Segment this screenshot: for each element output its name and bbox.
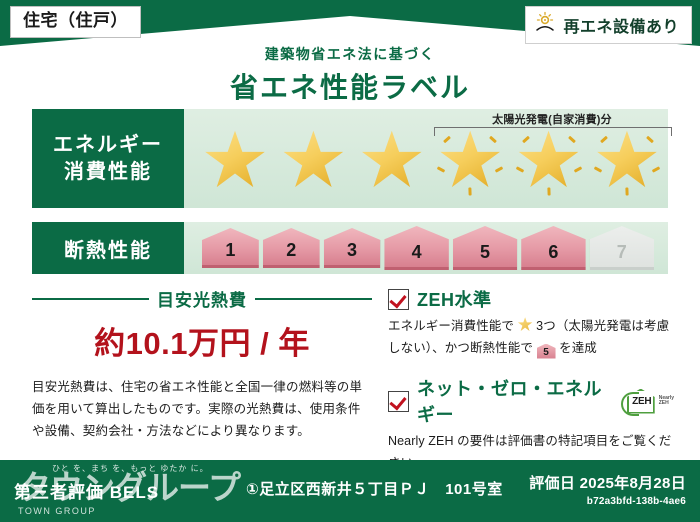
energy-label-line2: 消費性能 [64,159,152,186]
insulation-level-2: 2 [263,228,320,268]
star-icon [200,124,270,194]
net-zero-title: ネット・ゼロ・エネルギー [417,375,609,427]
evaluation-id: b72a3bfd-138b-4ae6 [529,496,686,507]
checkbox-checked-icon[interactable] [388,391,409,412]
net-zero-check-row: ネット・ゼロ・エネルギー ZEH Nearly ZEH [388,375,674,427]
house-level-icon: 5 [537,344,556,359]
sparkle-icon [594,166,602,172]
sparkle-icon [515,166,523,172]
sparkle-icon [646,135,654,143]
zeh-sub-line2: ZEH [659,400,669,406]
insulation-level-7: 7 [590,226,654,270]
star-solar-icon [592,124,662,194]
zeh-mark-icon: ZEH [621,389,657,414]
sparkle-icon [489,135,497,143]
insulation-scale: 1234567 [202,222,654,274]
utility-cost-heading: 目安光熱費 [32,286,372,311]
star-shape [204,130,266,192]
utility-cost-block: 目安光熱費 約10.1万円 / 年 目安光熱費は、住宅の省エネ性能と全国一律の燃… [32,286,372,443]
insulation-level-3: 3 [324,228,381,268]
insulation-performance-row: 断熱性能 1234567 [32,222,668,274]
property-address: ①足立区西新井５丁目ＰＪ 101号室 [246,478,503,499]
insulation-level-1: 1 [202,228,259,268]
star-shape [361,130,423,192]
footer-bar: 第三者評価 BELS ①足立区西新井５丁目ＰＪ 101号室 評価日 2025年8… [0,460,700,522]
utility-cost-note: 目安光熱費は、住宅の省エネ性能と全国一律の燃料等の単価を用いて算出したものです。… [32,377,372,443]
heading-rule-left [32,298,149,300]
zeh-standard-title: ZEH水準 [417,286,492,312]
sparkle-icon [568,135,576,143]
evaluation-date: 評価日 2025年8月28日 [529,472,686,493]
utility-cost-label: 目安光熱費 [157,286,247,311]
renewable-badge-label: 再エネ設備あり [563,13,679,37]
zeh-house-logo: ZEH Nearly ZEH [621,389,674,414]
sparkle-icon [437,166,445,172]
insulation-row-label: 断熱性能 [32,222,184,274]
energy-row-body: 太陽光発電(自家消費)分 [184,109,668,208]
insulation-level-5: 5 [453,226,517,270]
certification-checks: ZEH水準 エネルギー消費性能で 3つ（太陽光発電は考慮しない）、かつ断熱性能で… [388,286,674,474]
sparkle-icon [495,166,503,172]
zeh-body-part1: エネルギー消費性能で [388,319,514,333]
page-title: 省エネ性能ラベル [0,66,700,106]
renewable-energy-badge: 再エネ設備あり [525,6,692,44]
heading-rule-right [255,298,372,300]
utility-cost-value: 約10.1万円 / 年 [32,318,372,363]
sparkle-icon [547,187,550,195]
star-rating [194,109,668,208]
star-solar-icon [435,124,505,194]
sun-icon [534,11,556,38]
building-type-tag: 住宅（住戸） [10,6,141,38]
energy-label-line1: エネルギー [53,132,163,159]
third-party-evaluation-label: 第三者評価 BELS [14,478,159,503]
label-title-group: 建築物省エネ法に基づく 省エネ性能ラベル [0,44,700,106]
energy-performance-row: エネルギー 消費性能 太陽光発電(自家消費)分 [32,109,668,208]
checkbox-checked-icon[interactable] [388,289,409,310]
zeh-standard-body: エネルギー消費性能で 3つ（太陽光発電は考慮しない）、かつ断熱性能で 5 を達成 [388,316,674,359]
star-solar-icon [514,124,584,194]
sparkle-icon [573,166,581,172]
insulation-level-6: 6 [521,226,585,270]
sparkle-icon [625,187,628,195]
insulation-level-4: 4 [384,226,448,270]
star-icon [518,317,533,332]
star-shape [282,130,344,192]
zeh-body-part3: を達成 [559,341,597,355]
zeh-logo-text: ZEH [630,396,654,407]
energy-row-label: エネルギー 消費性能 [32,109,184,208]
star-icon [278,124,348,194]
energy-performance-label: 住宅（住戸） 再エネ設備あり 建築物省エネ法に基づく 省エネ性能ラベル [0,0,700,522]
sparkle-icon [443,135,451,143]
sparkle-icon [652,166,660,172]
insulation-row-body: 1234567 [184,222,668,274]
insulation-label-text: 断熱性能 [64,234,152,263]
zeh-standard-check: ZEH水準 エネルギー消費性能で 3つ（太陽光発電は考慮しない）、かつ断熱性能で… [388,286,674,359]
evaluation-date-group: 評価日 2025年8月28日 b72a3bfd-138b-4ae6 [529,472,686,507]
sparkle-icon [469,187,472,195]
zeh-logo-subtext: Nearly ZEH [659,396,674,407]
star-icon [357,124,427,194]
sparkle-icon [600,135,608,143]
zeh-standard-check-row: ZEH水準 [388,286,674,312]
sparkle-icon [522,135,530,143]
label-subtitle: 建築物省エネ法に基づく [0,44,700,64]
